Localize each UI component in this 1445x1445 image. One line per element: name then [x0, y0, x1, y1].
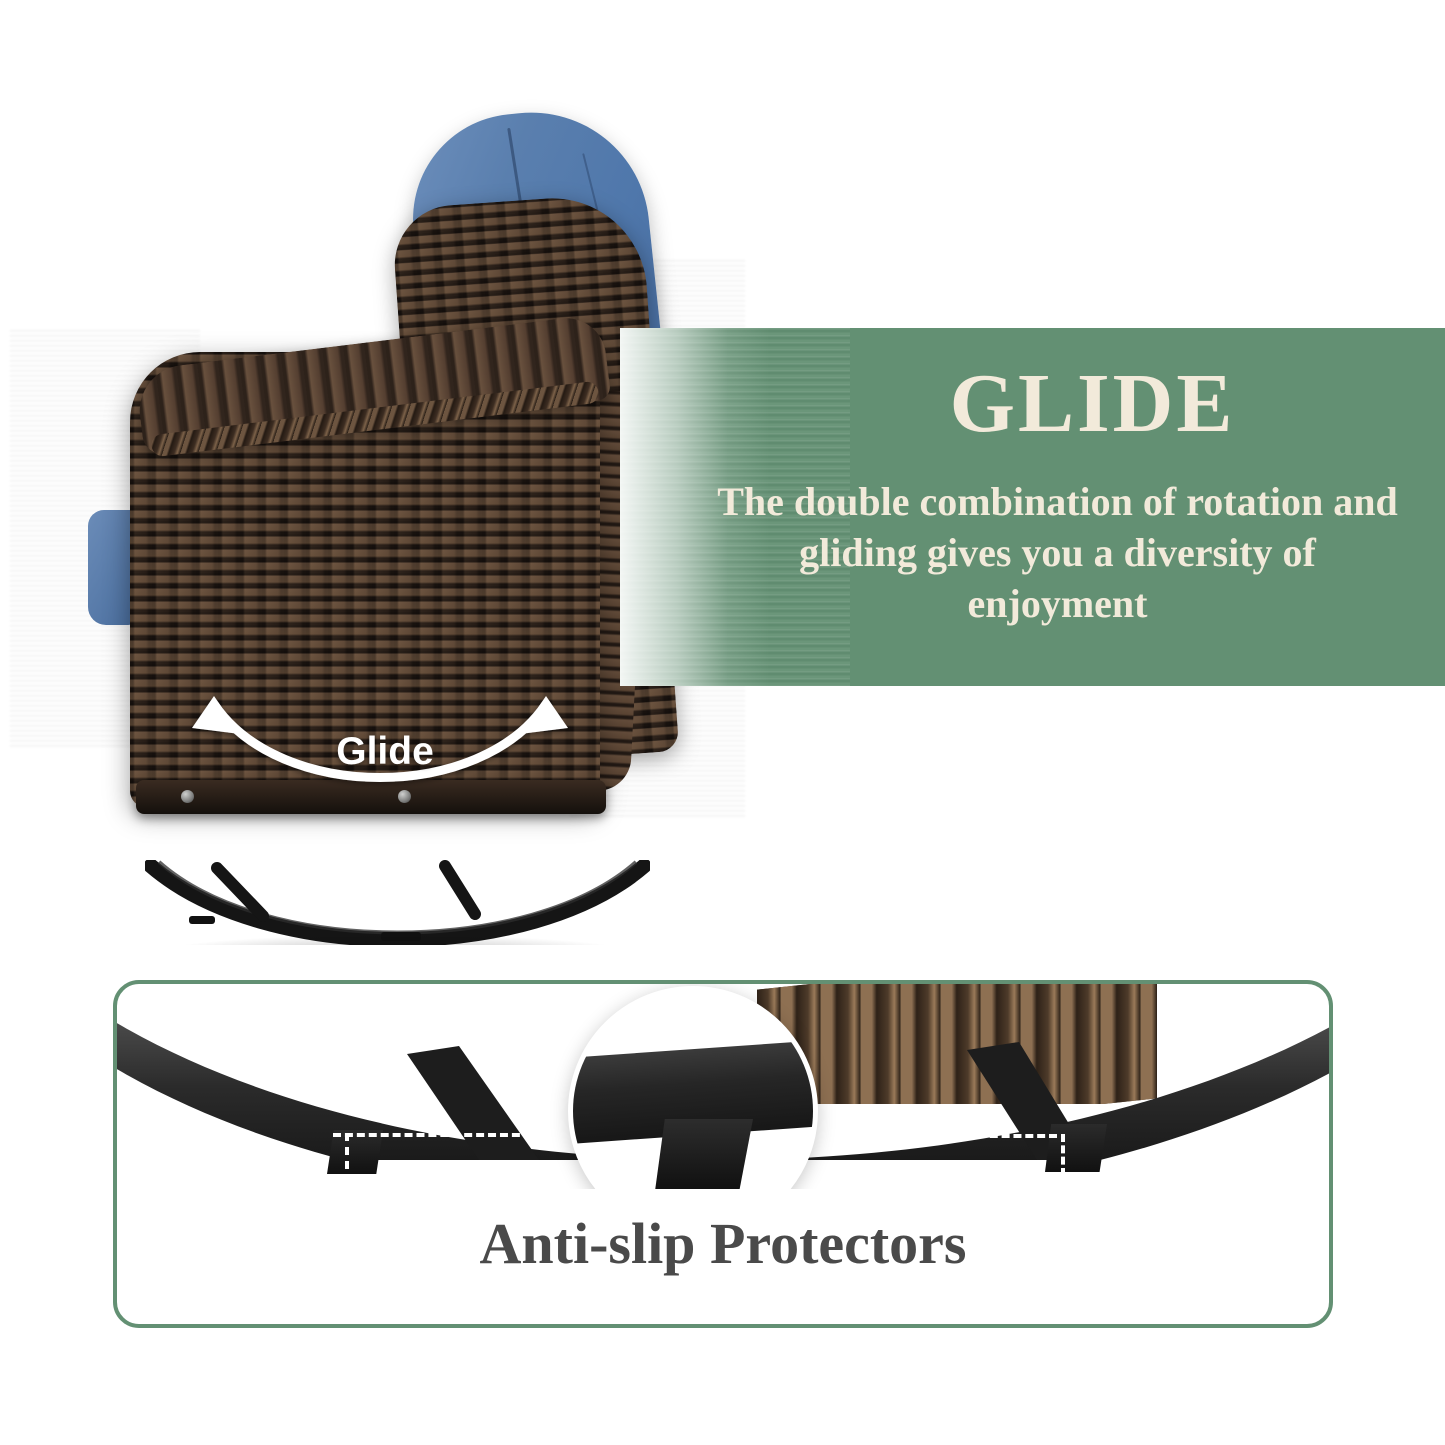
product-feature-image: Glide GLIDE The double combination of ro… — [0, 0, 1445, 1445]
banner-title: GLIDE — [620, 362, 1445, 446]
glide-banner: GLIDE The double combination of rotation… — [620, 328, 1445, 686]
top-section: Glide GLIDE The double combination of ro… — [0, 0, 1445, 945]
base-closeup-photo — [117, 984, 1329, 1189]
dashed-drop-right — [1061, 1134, 1065, 1176]
glide-label: Glide — [310, 730, 460, 774]
magnified-anti-slip-foot — [655, 1119, 753, 1189]
anti-slip-foot-right — [1045, 1124, 1107, 1172]
anti-slip-detail-panel: Anti-slip Protectors — [113, 980, 1333, 1328]
anti-slip-caption: Anti-slip Protectors — [117, 1210, 1329, 1277]
swivel-base-ring — [145, 860, 650, 945]
dashed-drop-left — [345, 1133, 349, 1169]
cushion-left-edge — [88, 510, 134, 625]
banner-subtitle: The double combination of rotation and g… — [708, 476, 1407, 630]
